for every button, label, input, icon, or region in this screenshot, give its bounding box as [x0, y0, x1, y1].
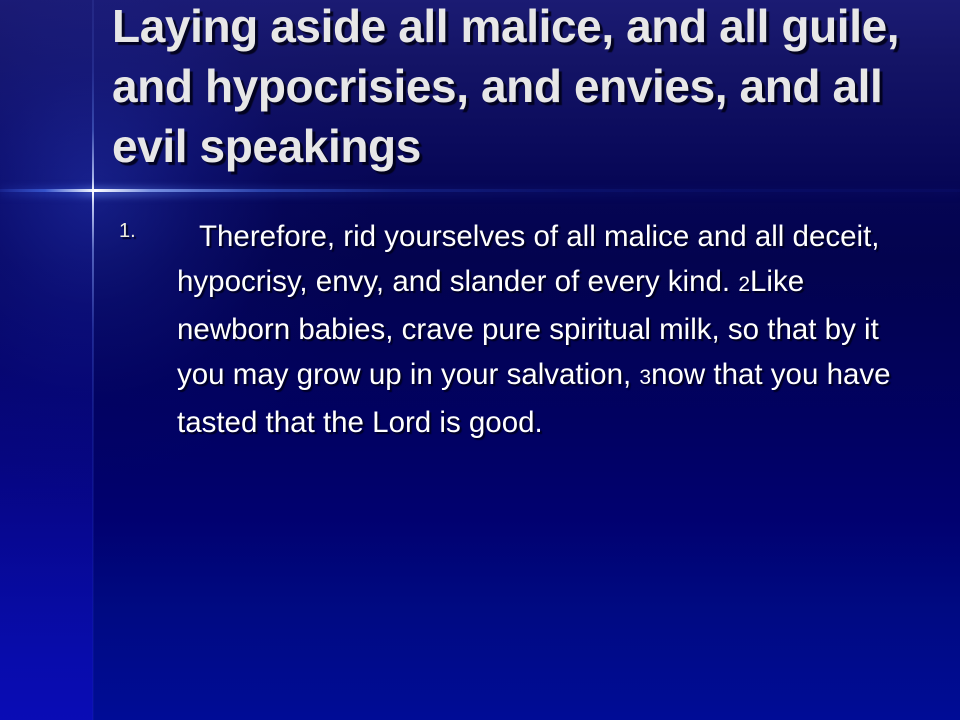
- list-item-text: Therefore, rid yourselves of all malice …: [177, 214, 922, 445]
- presentation-slide: Laying aside all malice, and all guile, …: [0, 0, 960, 720]
- left-accent-band: [0, 0, 93, 720]
- verse-number: 3: [639, 366, 651, 389]
- verse-number: 2: [738, 273, 750, 296]
- slide-title: Laying aside all malice, and all guile, …: [112, 0, 950, 176]
- horizontal-accent-haze: [0, 186, 960, 198]
- horizontal-accent-line: [0, 189, 960, 192]
- vertical-accent-line: [92, 0, 94, 720]
- slide-body: 1. Therefore, rid yourselves of all mali…: [112, 214, 922, 445]
- list-item: 1. Therefore, rid yourselves of all mali…: [112, 214, 922, 445]
- list-item-marker: 1.: [119, 220, 136, 243]
